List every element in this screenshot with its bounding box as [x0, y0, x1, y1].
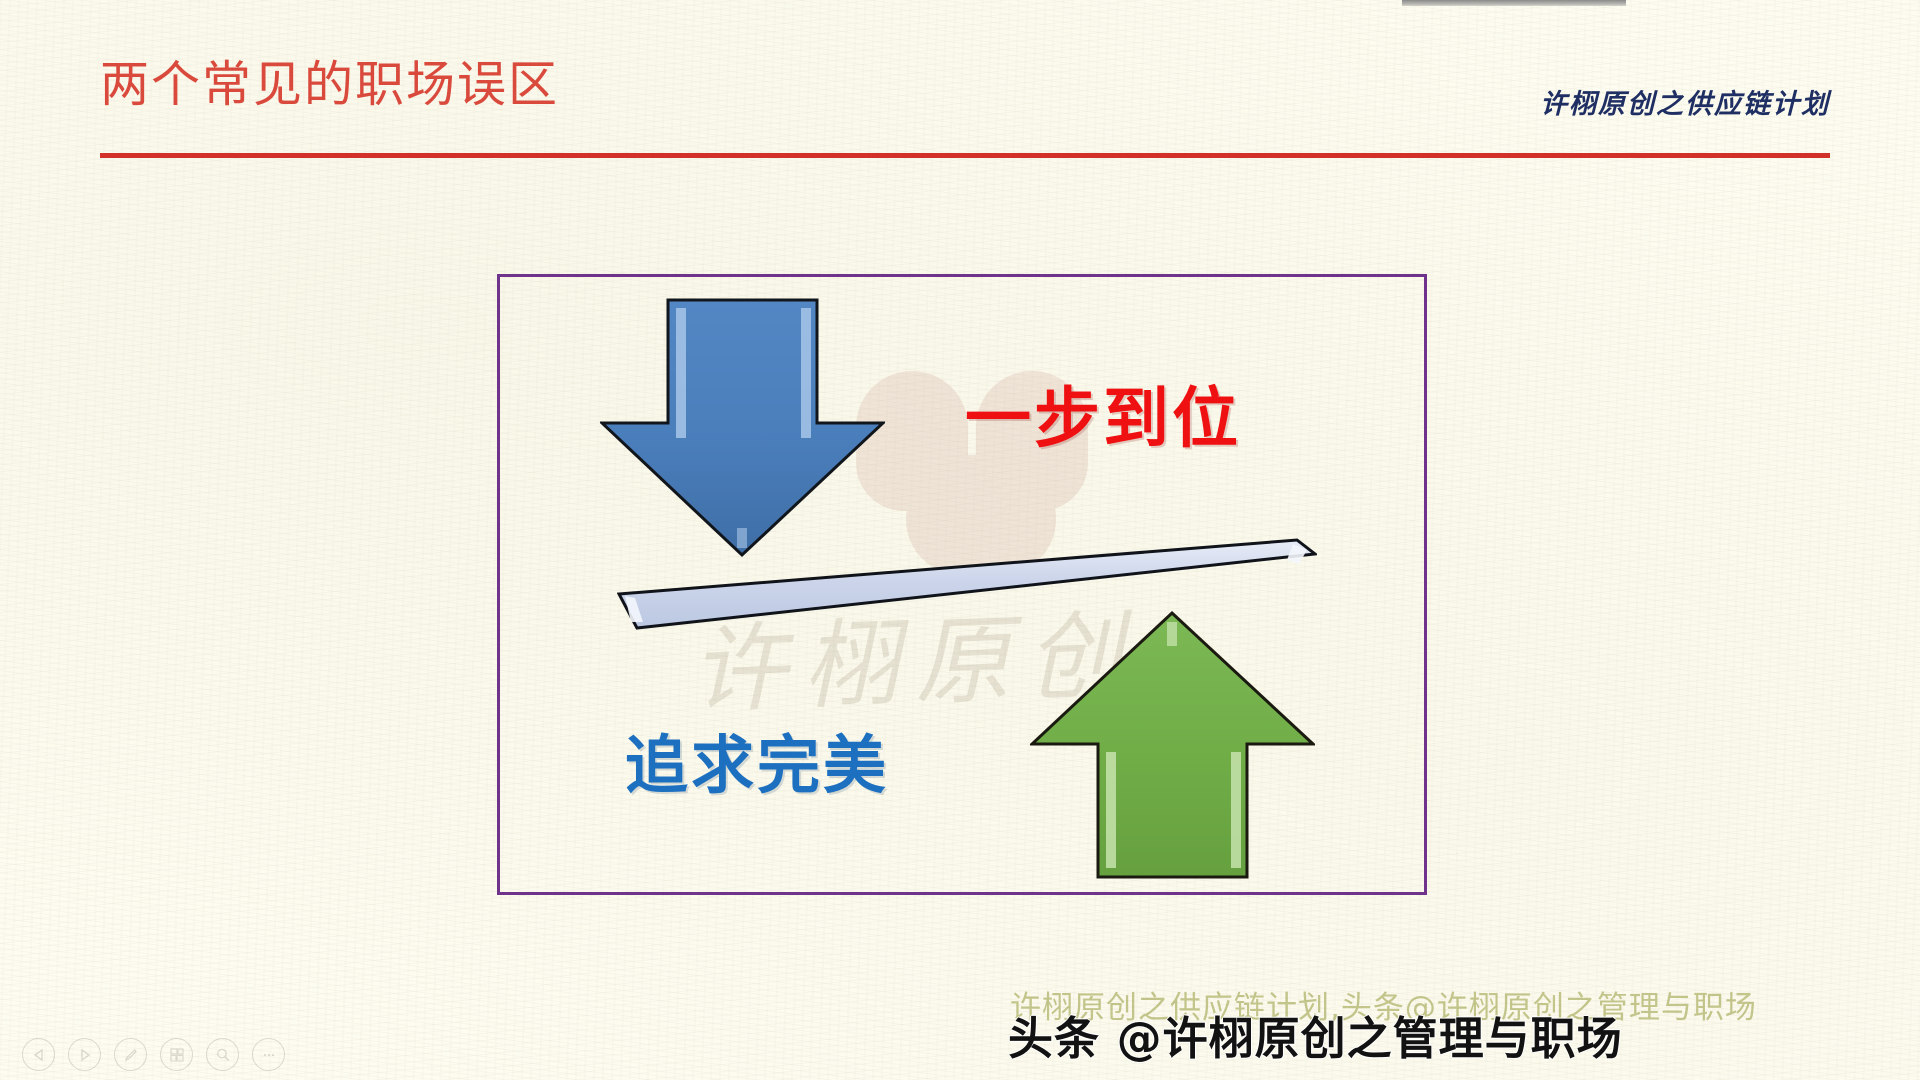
slide-overview-button[interactable] — [160, 1038, 193, 1071]
label-one-step: 一步到位 — [965, 365, 1241, 461]
pen-icon — [123, 1047, 139, 1063]
title-underline-rule — [100, 153, 1830, 158]
label-pursue-perfection: 追求完美 — [625, 715, 889, 806]
magnifier-icon — [215, 1047, 231, 1063]
triangle-right-icon — [78, 1048, 92, 1062]
header-brand-text: 许栩原创之供应链计划 — [1540, 82, 1830, 121]
green-up-arrow — [1030, 610, 1315, 880]
presentation-toolbar — [22, 1038, 285, 1071]
zoom-button[interactable] — [206, 1038, 239, 1071]
footer-brand-watermark: 头条 @许栩原创之管理与职场 — [1008, 1002, 1623, 1067]
triangle-left-icon — [32, 1048, 46, 1062]
previous-slide-button[interactable] — [22, 1038, 55, 1071]
ellipsis-icon — [261, 1047, 277, 1063]
more-options-button[interactable] — [252, 1038, 285, 1071]
presentation-slide: 两个常见的职场误区 许栩原创之供应链计划 许栩原创 — [0, 0, 1920, 1080]
top-gray-strip — [1402, 0, 1626, 6]
page-title: 两个常见的职场误区 — [100, 58, 559, 112]
next-slide-button[interactable] — [68, 1038, 101, 1071]
blue-down-arrow — [600, 298, 885, 558]
pen-tool-button[interactable] — [114, 1038, 147, 1071]
slides-grid-icon — [169, 1047, 185, 1063]
